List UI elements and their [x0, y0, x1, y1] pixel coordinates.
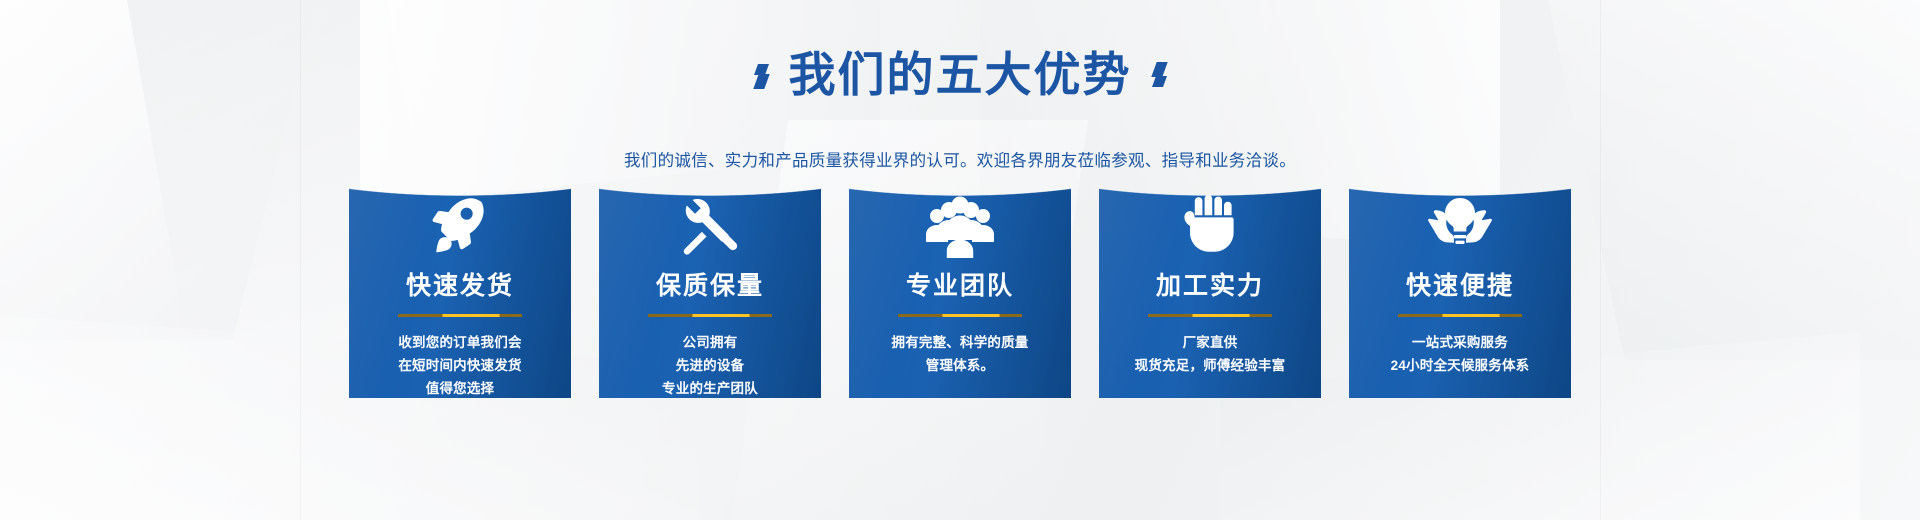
card-divider — [1398, 314, 1522, 317]
card-description: 一站式采购服务 24小时全天候服务体系 — [1349, 331, 1571, 377]
card-divider — [898, 314, 1022, 317]
card-description: 收到您的订单我们会 在短时间内快速发货 值得您选择 — [349, 331, 571, 398]
card-title: 保质保量 — [599, 274, 821, 299]
card-description: 厂家直供 现货充足，师傅经验丰富 — [1099, 331, 1321, 377]
advantage-card[interactable]: 快速发货 收到您的订单我们会 在短时间内快速发货 值得您选择 — [349, 140, 571, 398]
advantage-card[interactable]: 保质保量 公司拥有 先进的设备 专业的生产团队 专业的技术工人 — [599, 140, 821, 398]
page-title: 我们的五大优势 — [789, 49, 1132, 101]
card-divider — [648, 314, 772, 317]
card-divider — [398, 314, 522, 317]
advantages-banner: 我们的五大优势 我们的诚信、实力和产品质量获得业界的认可。欢迎各界朋友莅临参观、… — [0, 0, 1920, 520]
advantage-card[interactable]: 专业团队 拥有完整、科学的质量 管理体系。 — [849, 140, 1071, 398]
card-title: 快速发货 — [349, 274, 571, 299]
slash-marks-right-icon — [1154, 64, 1165, 87]
title-row: 我们的五大优势 — [0, 0, 1920, 133]
card-description: 公司拥有 先进的设备 专业的生产团队 专业的技术工人 — [599, 331, 821, 398]
wrench-screwdriver-icon — [599, 140, 821, 258]
card-description: 拥有完整、科学的质量 管理体系。 — [849, 331, 1071, 377]
card-divider — [1148, 314, 1272, 317]
card-title: 专业团队 — [849, 274, 1071, 299]
hands-lightbulb-icon — [1349, 140, 1571, 258]
card-title: 加工实力 — [1099, 274, 1321, 299]
card-title: 快速便捷 — [1349, 274, 1571, 299]
advantage-card[interactable]: 快速便捷 一站式采购服务 24小时全天候服务体系 — [1349, 140, 1571, 398]
rocket-icon — [349, 140, 571, 258]
fist-strength-icon — [1099, 140, 1321, 258]
team-people-icon — [849, 140, 1071, 258]
advantage-card[interactable]: 加工实力 厂家直供 现货充足，师傅经验丰富 — [1099, 140, 1321, 398]
slash-marks-left-icon — [756, 62, 767, 89]
advantage-card-list: 快速发货 收到您的订单我们会 在短时间内快速发货 值得您选择 保质保量 公司拥有… — [0, 140, 1920, 398]
